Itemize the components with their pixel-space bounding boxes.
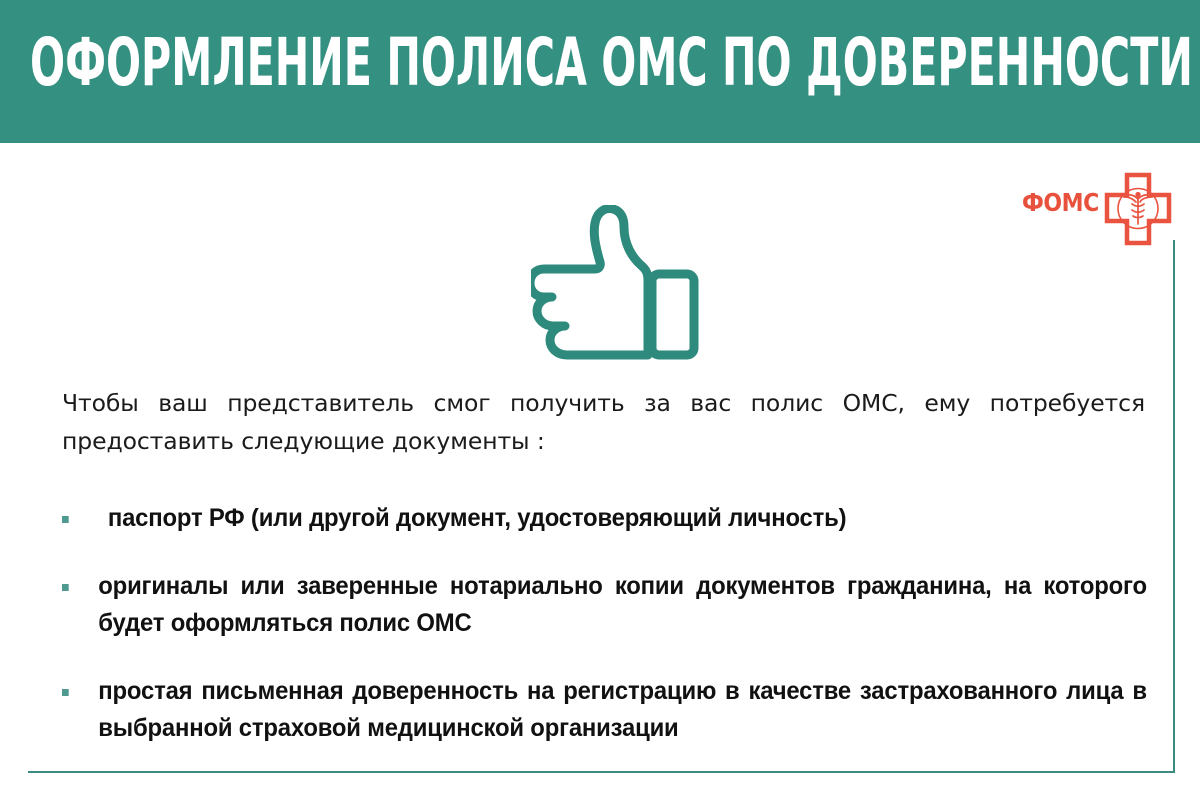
bullet-marker-icon [62, 516, 69, 523]
list-item: паспорт РФ (или другой документ, удостов… [62, 500, 1147, 537]
list-item: оригиналы или заверенные нотариально коп… [62, 568, 1147, 642]
card-border-right [1173, 240, 1175, 773]
card-border-bottom [28, 771, 1175, 773]
thumbs-up-icon [531, 205, 699, 365]
intro-paragraph: Чтобы ваш представитель смог получить за… [62, 384, 1145, 460]
content-card: Чтобы ваш представитель смог получить за… [28, 172, 1173, 771]
bullet-marker-icon [62, 689, 69, 696]
bullet-marker-icon [62, 584, 69, 591]
medical-cross-icon [1104, 172, 1172, 246]
foms-logo: ФОМС [1022, 168, 1172, 248]
list-item-label: оригиналы или заверенные нотариально коп… [62, 568, 1147, 642]
body-text-block: Чтобы ваш представитель смог получить за… [62, 384, 1148, 747]
header-banner: ОФОРМЛЕНИЕ ПОЛИСА ОМС ПО ДОВЕРЕННОСТИ [0, 0, 1200, 143]
list-item: простая письменная доверенность на регис… [62, 673, 1147, 747]
list-item-label: паспорт РФ (или другой документ, удостов… [62, 500, 1147, 537]
foms-wordmark: ФОМС [1022, 190, 1099, 215]
requirements-list: паспорт РФ (или другой документ, удостов… [62, 500, 1148, 747]
list-item-label: простая письменная доверенность на регис… [62, 673, 1147, 747]
page-title: ОФОРМЛЕНИЕ ПОЛИСА ОМС ПО ДОВЕРЕННОСТИ [30, 27, 1174, 99]
